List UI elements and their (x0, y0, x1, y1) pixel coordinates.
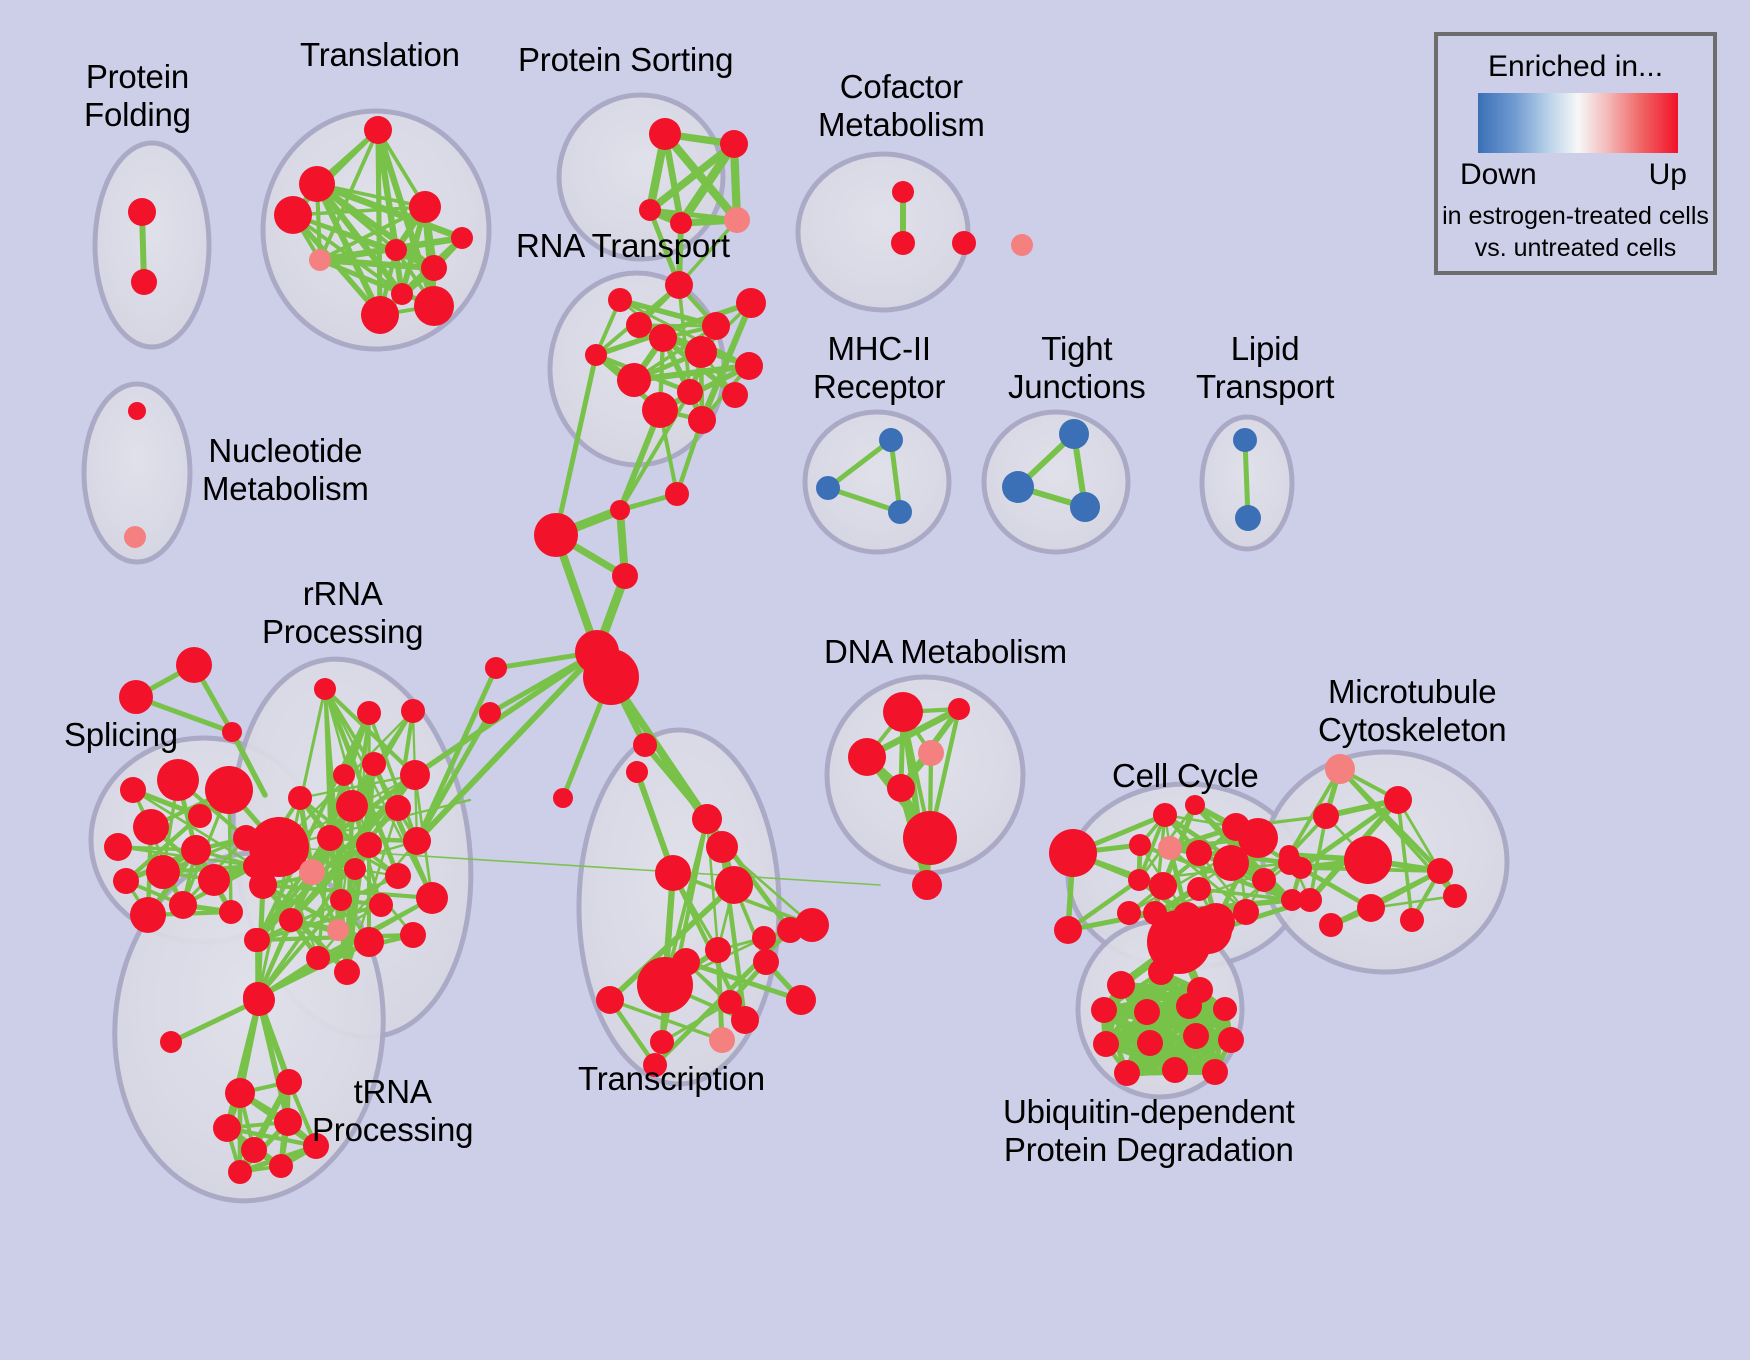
network-node (892, 181, 914, 203)
legend-subtitle-line1: in estrogen-treated cells (1438, 202, 1713, 231)
network-node (243, 984, 275, 1016)
network-node (1011, 234, 1033, 256)
network-node (336, 790, 368, 822)
network-node (1235, 505, 1261, 531)
network-node (626, 312, 652, 338)
network-node (1148, 959, 1174, 985)
network-node (1183, 1023, 1209, 1049)
network-node (357, 701, 381, 725)
network-node (485, 657, 507, 679)
network-node (274, 1108, 302, 1136)
network-node (1202, 1059, 1228, 1085)
network-node (169, 891, 197, 919)
network-node (677, 379, 703, 405)
network-node (610, 500, 630, 520)
network-node (688, 406, 716, 434)
network-node (702, 312, 730, 340)
network-node (553, 788, 573, 808)
network-node (715, 866, 753, 904)
network-node (1427, 858, 1453, 884)
network-node (414, 286, 454, 326)
network-node (361, 296, 399, 334)
legend-up-label: Up (1649, 158, 1687, 192)
network-node (317, 825, 343, 851)
network-node (731, 1006, 759, 1034)
network-node (244, 928, 268, 952)
network-node (883, 692, 923, 732)
network-node (1344, 836, 1392, 884)
network-node (400, 760, 430, 790)
network-node (1213, 997, 1237, 1021)
network-node (879, 428, 903, 452)
network-node (344, 858, 366, 880)
network-node (1218, 1027, 1244, 1053)
network-node (391, 283, 413, 305)
network-node (1070, 492, 1100, 522)
network-node (816, 476, 840, 500)
network-node (334, 959, 360, 985)
network-node (479, 702, 501, 724)
network-node (421, 255, 447, 281)
network-node (665, 482, 689, 506)
network-node (649, 324, 677, 352)
legend-down-label: Down (1460, 158, 1537, 192)
network-node (948, 698, 970, 720)
network-node (451, 227, 473, 249)
network-node (642, 392, 678, 428)
network-node (403, 827, 431, 855)
network-node (650, 1030, 674, 1054)
network-figure: Protein FoldingTranslationNucleotide Met… (0, 0, 1750, 1360)
network-node (1213, 845, 1249, 881)
network-node (354, 927, 384, 957)
network-node (786, 985, 816, 1015)
network-node (401, 699, 425, 723)
network-node (848, 738, 886, 776)
network-node (385, 863, 411, 889)
network-node (709, 1027, 735, 1053)
network-node (181, 835, 211, 865)
network-node (1129, 834, 1151, 856)
network-node (119, 680, 153, 714)
legend-box: Enriched in... Down Up in estrogen-treat… (1434, 32, 1717, 275)
network-node (219, 900, 243, 924)
network-node (665, 271, 693, 299)
network-node (705, 937, 731, 963)
network-node (633, 733, 657, 757)
network-node (113, 868, 139, 894)
network-node (1054, 916, 1082, 944)
network-node (416, 882, 448, 914)
network-node (596, 986, 624, 1014)
network-node (735, 352, 763, 380)
network-node (1093, 1031, 1119, 1057)
network-node (128, 198, 156, 226)
network-node (1091, 997, 1117, 1023)
network-node (612, 563, 638, 589)
network-node (327, 919, 349, 941)
network-node (1279, 845, 1299, 865)
network-node (912, 870, 942, 900)
network-node (146, 855, 180, 889)
network-node (409, 191, 441, 223)
cluster-label-cofactor-metabolism: Cofactor Metabolism (818, 68, 985, 144)
network-node (1357, 894, 1385, 922)
network-node (241, 1137, 267, 1163)
cluster-label-tight-junctions: Tight Junctions (1008, 330, 1146, 406)
network-node (124, 526, 146, 548)
network-node (1162, 1057, 1188, 1083)
network-node (176, 647, 212, 683)
cluster-label-mhc-ii-receptor: MHC-II Receptor (813, 330, 945, 406)
network-node (1117, 901, 1141, 925)
cluster-label-lipid-transport: Lipid Transport (1196, 330, 1334, 406)
network-node (639, 199, 661, 221)
network-node (1114, 1060, 1140, 1086)
network-node (276, 1069, 302, 1095)
network-node (385, 239, 407, 261)
network-node (314, 678, 336, 700)
network-node (1384, 786, 1412, 814)
network-node (356, 832, 382, 858)
network-node (655, 855, 691, 891)
network-node (1185, 795, 1205, 815)
cluster-label-protein-sorting: Protein Sorting (518, 41, 733, 79)
network-node (249, 871, 277, 899)
network-node (1400, 908, 1424, 932)
network-node (1233, 428, 1257, 452)
network-node (274, 196, 312, 234)
legend-color-bar (1478, 93, 1678, 153)
network-node (617, 363, 651, 397)
network-node (752, 926, 776, 950)
network-node (1443, 884, 1467, 908)
network-node (369, 893, 393, 917)
network-node (1128, 869, 1150, 891)
network-node (585, 344, 607, 366)
legend-title: Enriched in... (1438, 50, 1713, 84)
network-node (1176, 993, 1202, 1019)
network-node (205, 766, 253, 814)
network-node (362, 752, 386, 776)
network-node (222, 722, 242, 742)
network-node (128, 402, 146, 420)
network-node (330, 889, 352, 911)
cluster-label-trna-processing: tRNA Processing (312, 1073, 473, 1149)
network-node (1107, 971, 1135, 999)
cluster-label-transcription: Transcription (578, 1060, 765, 1098)
network-node (1319, 913, 1343, 937)
network-node (722, 382, 748, 408)
network-node (1233, 899, 1259, 925)
network-node (213, 1114, 241, 1142)
network-node (1149, 872, 1177, 900)
legend-subtitle-line2: vs. untreated cells (1438, 234, 1713, 263)
network-node (306, 946, 330, 970)
network-node (131, 269, 157, 295)
cluster-label-splicing: Splicing (64, 716, 178, 754)
network-node (333, 764, 355, 786)
network-node (891, 231, 915, 255)
cluster-label-dna-metabolism: DNA Metabolism (824, 633, 1067, 671)
network-node (120, 777, 146, 803)
network-node (685, 336, 717, 368)
network-node (626, 761, 648, 783)
network-node (692, 804, 722, 834)
network-node (777, 917, 803, 943)
network-node (706, 831, 738, 863)
network-node (299, 859, 325, 885)
network-node (309, 249, 331, 271)
network-node (1134, 999, 1160, 1025)
network-node (400, 922, 426, 948)
network-node (1313, 803, 1339, 829)
cluster-label-nucleotide-metabolism: Nucleotide Metabolism (202, 432, 369, 508)
cluster-ellipses (84, 95, 1507, 1210)
network-node (887, 774, 915, 802)
network-node (104, 833, 132, 861)
cluster-label-rrna-processing: rRNA Processing (262, 575, 423, 651)
cluster-label-cell-cycle: Cell Cycle (1112, 757, 1259, 795)
network-node (269, 1154, 293, 1178)
network-node (1187, 877, 1211, 901)
cluster-ellipse-protein-folding (95, 143, 209, 347)
cluster-label-rna-transport: RNA Transport (516, 227, 730, 265)
network-node (299, 166, 335, 202)
network-node (952, 231, 976, 255)
network-node (583, 649, 639, 705)
network-node (736, 288, 766, 318)
cluster-label-translation: Translation (300, 36, 460, 74)
network-node (364, 116, 392, 144)
network-node (637, 957, 693, 1013)
network-node (888, 500, 912, 524)
network-node (534, 513, 578, 557)
network-node (903, 811, 957, 865)
cluster-label-microtubule-cytoskeleton: Microtubule Cytoskeleton (1318, 673, 1506, 749)
network-node (1186, 840, 1212, 866)
network-node (753, 949, 779, 975)
cluster-ellipse-cofactor-metabolism (798, 154, 968, 310)
network-node (133, 809, 169, 845)
network-node (130, 897, 166, 933)
network-node (1059, 419, 1089, 449)
network-node (1137, 1030, 1163, 1056)
network-node (288, 786, 312, 810)
network-node (918, 740, 944, 766)
network-node (279, 908, 303, 932)
network-node (225, 1078, 255, 1108)
network-node (160, 1031, 182, 1053)
network-node (198, 864, 230, 896)
cluster-label-protein-folding: Protein Folding (84, 58, 191, 134)
network-node (228, 1160, 252, 1184)
network-node (1298, 888, 1322, 912)
network-node (1252, 868, 1276, 892)
network-edge (378, 130, 380, 315)
network-node (385, 795, 411, 821)
cluster-label-ubiquitin-protein-degradation: Ubiquitin-dependent Protein Degradation (1003, 1093, 1295, 1169)
network-node (188, 804, 212, 828)
network-node (1158, 836, 1182, 860)
network-node (1325, 754, 1355, 784)
network-node (649, 118, 681, 150)
network-node (720, 130, 748, 158)
network-node (1153, 803, 1177, 827)
network-node (157, 759, 199, 801)
network-node (1002, 471, 1034, 503)
network-node (608, 288, 632, 312)
network-node (1049, 829, 1097, 877)
